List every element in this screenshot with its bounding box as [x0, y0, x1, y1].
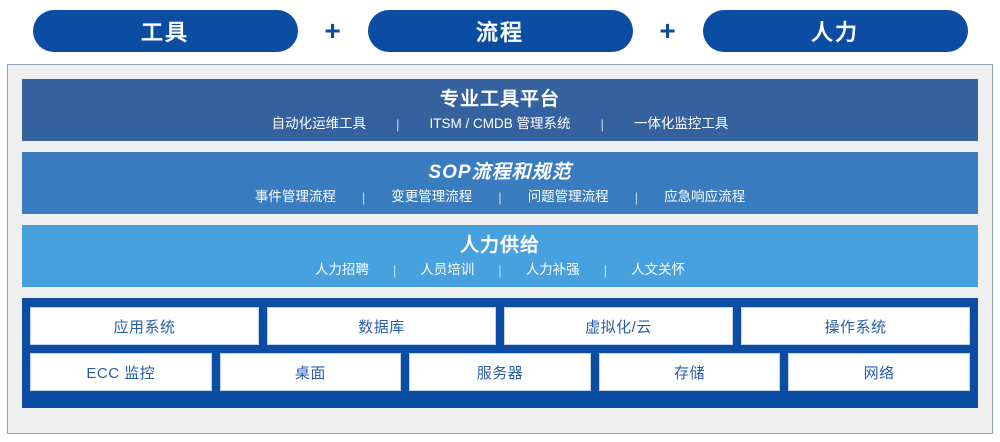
object-box-label: 存储 — [674, 362, 705, 383]
band-item: 变更管理流程 — [391, 187, 472, 207]
band-separator: | — [635, 188, 638, 208]
object-box-label: 服务器 — [477, 362, 524, 383]
pill-process-label: 流程 — [476, 15, 524, 47]
object-box[interactable]: 桌面 — [220, 353, 402, 391]
band-manpower-supply-items: 人力招聘 | 人员培训 | 人力补强 | 人文关怀 — [291, 260, 709, 280]
band-separator: | — [498, 261, 501, 281]
object-box-label: 操作系统 — [824, 316, 886, 337]
object-box[interactable]: 服务器 — [409, 353, 591, 391]
object-box[interactable]: ECC 监控 — [30, 353, 212, 391]
capability-panel: 专业工具平台 自动化运维工具 | ITSM / CMDB 管理系统 | 一体化监… — [7, 64, 993, 434]
band-item: 应急响应流程 — [664, 187, 745, 207]
band-separator: | — [601, 115, 604, 135]
object-grid-row-2: ECC 监控 桌面 服务器 存储 网络 — [30, 353, 970, 391]
band-item: 问题管理流程 — [528, 187, 609, 207]
object-box-label: ECC 监控 — [86, 362, 155, 383]
object-box-label: 网络 — [864, 362, 895, 383]
band-separator: | — [498, 188, 501, 208]
object-box[interactable]: 数据库 — [267, 307, 496, 345]
band-separator: | — [604, 261, 607, 281]
pill-tools-label: 工具 — [141, 15, 189, 47]
band-manpower-supply-title: 人力供给 — [460, 234, 540, 258]
object-box-label: 数据库 — [358, 316, 405, 337]
object-box[interactable]: 操作系统 — [741, 307, 970, 345]
band-item: 人员培训 — [420, 260, 474, 280]
pill-manpower-label: 人力 — [811, 15, 859, 47]
band-item: 人文关怀 — [631, 260, 685, 280]
top-pill-row: 工具 + 流程 + 人力 — [0, 0, 1000, 62]
band-sop-process[interactable]: SOP流程和规范 事件管理流程 | 变更管理流程 | 问题管理流程 | 应急响应… — [22, 152, 978, 214]
band-item: ITSM / CMDB 管理系统 — [430, 114, 571, 134]
band-item: 事件管理流程 — [255, 187, 336, 207]
object-box-label: 桌面 — [295, 362, 326, 383]
band-item: 自动化运维工具 — [272, 114, 367, 134]
pill-process[interactable]: 流程 — [368, 10, 633, 52]
band-sop-process-items: 事件管理流程 | 变更管理流程 | 问题管理流程 | 应急响应流程 — [229, 187, 771, 207]
object-box[interactable]: 存储 — [599, 353, 781, 391]
band-separator: | — [396, 115, 399, 135]
object-grid-row-1: 应用系统 数据库 虚拟化/云 操作系统 — [30, 307, 970, 345]
band-sop-process-title: SOP流程和规范 — [428, 161, 571, 185]
object-box-label: 虚拟化/云 — [585, 316, 652, 337]
band-separator: | — [393, 261, 396, 281]
plus-separator-1: + — [298, 17, 368, 45]
band-tool-platform-items: 自动化运维工具 | ITSM / CMDB 管理系统 | 一体化监控工具 — [242, 114, 759, 134]
pill-tools[interactable]: 工具 — [33, 10, 298, 52]
band-item: 人力补强 — [526, 260, 580, 280]
object-box[interactable]: 应用系统 — [30, 307, 259, 345]
band-separator: | — [362, 188, 365, 208]
plus-separator-2: + — [633, 17, 703, 45]
object-box-label: 应用系统 — [113, 316, 175, 337]
band-item: 一体化监控工具 — [634, 114, 729, 134]
object-box[interactable]: 虚拟化/云 — [504, 307, 733, 345]
band-tool-platform[interactable]: 专业工具平台 自动化运维工具 | ITSM / CMDB 管理系统 | 一体化监… — [22, 79, 978, 141]
band-tool-platform-title: 专业工具平台 — [440, 88, 560, 112]
band-item: 人力招聘 — [315, 260, 369, 280]
object-grid: 应用系统 数据库 虚拟化/云 操作系统 ECC 监控 桌面 服务器 存储 网络 — [22, 298, 978, 408]
pill-manpower[interactable]: 人力 — [703, 10, 968, 52]
band-manpower-supply[interactable]: 人力供给 人力招聘 | 人员培训 | 人力补强 | 人文关怀 — [22, 225, 978, 287]
object-box[interactable]: 网络 — [788, 353, 970, 391]
